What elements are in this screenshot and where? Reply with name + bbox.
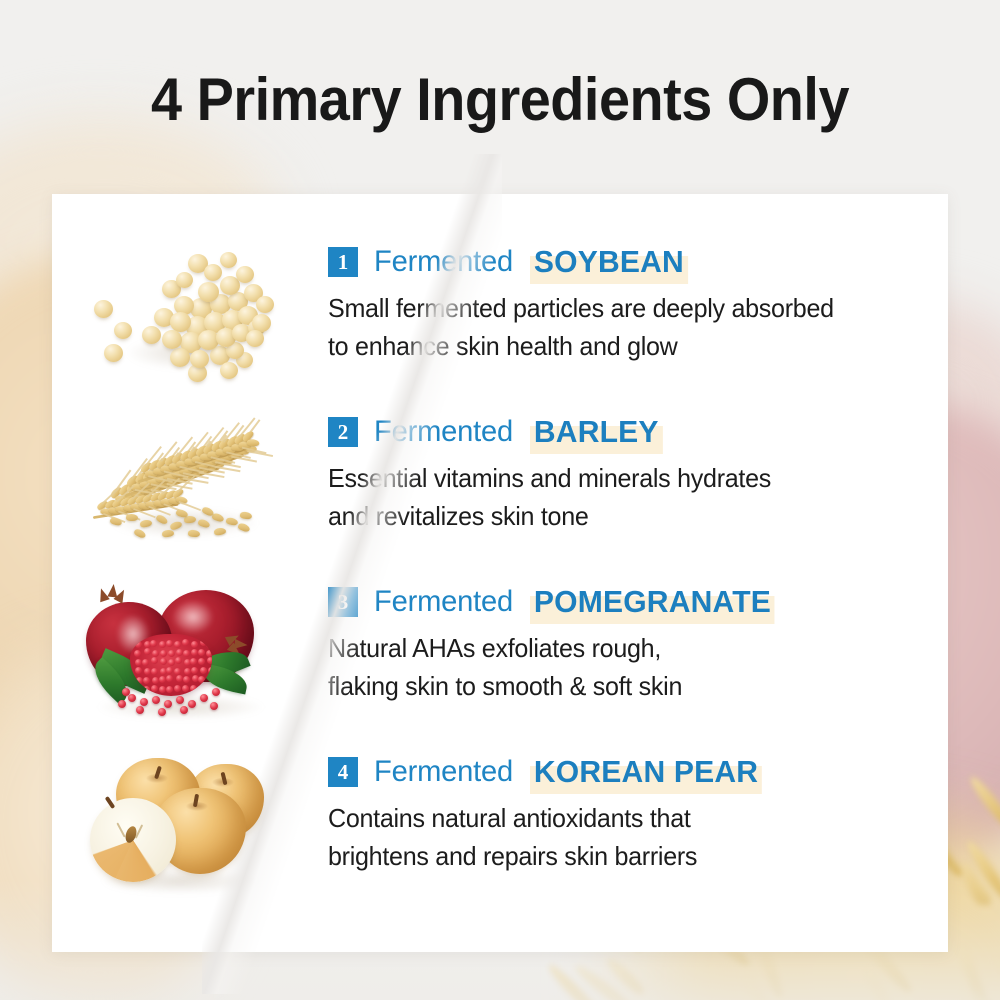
pomegranate-seed (118, 700, 126, 708)
pomegranate-aril (190, 658, 197, 665)
pomegranate-aril (159, 686, 166, 693)
pomegranate-aril (160, 650, 167, 657)
pomegranate-aril (183, 650, 190, 657)
ingredient-text: 3FermentedPOMEGRANATENatural AHAs exfoli… (328, 584, 938, 705)
pomegranate-seed (176, 696, 184, 704)
pomegranate-aril (166, 686, 173, 693)
pomegranate-aril (208, 667, 212, 674)
pomegranate-seed (200, 694, 208, 702)
ingredient-row: 1FermentedSOYBEANSmall fermented particl… (52, 236, 948, 406)
pomegranate-aril (136, 677, 143, 684)
pomegranate-aril (151, 668, 158, 675)
soybean (170, 312, 191, 332)
pomegranate-seed (210, 702, 218, 710)
pomegranate-aril (191, 667, 198, 674)
pomegranate-aril (152, 650, 159, 657)
pomegranate-aril (166, 667, 173, 674)
pomegranate-aril (135, 659, 142, 666)
pomegranate-aril (198, 658, 205, 665)
ingredient-text: 1FermentedSOYBEANSmall fermented particl… (328, 244, 938, 365)
pomegranate-seed (136, 706, 144, 714)
pomegranate-aril (151, 657, 158, 664)
ingredient-description-line-2: to enhance skin health and glow (328, 329, 917, 365)
barley-loose-grain (188, 529, 201, 537)
ingredient-description-line-2: brightens and repairs skin barriers (328, 839, 917, 875)
ingredient-text: 4FermentedKOREAN PEARContains natural an… (328, 754, 938, 875)
pear-cut-half (90, 798, 176, 882)
pomegranate-aril (160, 658, 167, 665)
pomegranate-aril (166, 675, 173, 682)
soybean (246, 330, 264, 347)
pomegranate-aril (144, 648, 151, 655)
ingredient-name: POMEGRANATE (530, 584, 775, 620)
pomegranate-aril (184, 668, 191, 675)
pomegranate-aril (182, 685, 189, 692)
pomegranate-aril (191, 649, 198, 656)
pomegranate-aril (174, 641, 181, 648)
pomegranate-seed (212, 688, 220, 696)
ingredient-number-badge: 4 (328, 757, 358, 787)
pomegranate-aril (198, 676, 205, 683)
ingredient-row: 4FermentedKOREAN PEARContains natural an… (52, 746, 948, 916)
ingredient-heading: 2FermentedBARLEY (328, 414, 938, 450)
pomegranate-aril (168, 659, 175, 666)
page-title: 4 Primary Ingredients Only (35, 70, 965, 130)
pomegranate-aril (166, 640, 173, 647)
ingredient-description-line-1: Natural AHAs exfoliates rough, (328, 631, 917, 667)
ingredient-prefix-label: Fermented (374, 245, 513, 279)
pomegranate-aril (143, 686, 150, 693)
pomegranate-aril (175, 657, 182, 664)
ingredient-name: SOYBEAN (530, 244, 688, 280)
korean-pear-photo (70, 746, 285, 906)
pomegranate-aril (207, 657, 212, 664)
soybean (220, 362, 238, 379)
soybean (114, 322, 132, 339)
pomegranate-aril (191, 641, 198, 648)
soybean (198, 282, 219, 302)
pomegranate-aril (142, 659, 149, 666)
ingredient-number-badge: 2 (328, 417, 358, 447)
ingredient-heading: 3FermentedPOMEGRANATE (328, 584, 938, 620)
ingredient-number-badge: 3 (328, 587, 358, 617)
pomegranate-aril (182, 639, 189, 646)
soybean (220, 252, 237, 268)
pomegranate-aril (190, 685, 197, 692)
pomegranate-aril (206, 641, 212, 648)
soybeans-photo (70, 236, 285, 396)
soybean (142, 326, 161, 344)
ingredients-card: 1FermentedSOYBEANSmall fermented particl… (52, 194, 948, 952)
soybean (176, 272, 193, 288)
pomegranate-seed (164, 700, 172, 708)
ingredient-number-badge: 1 (328, 247, 358, 277)
soybean (170, 348, 190, 367)
ingredient-heading: 1FermentedSOYBEAN (328, 244, 938, 280)
pomegranate-seed (128, 694, 136, 702)
barley-loose-grain (126, 514, 138, 521)
ingredient-name: KOREAN PEAR (530, 754, 762, 790)
pomegranate-gloss (172, 600, 214, 634)
pomegranate-aril (134, 650, 141, 657)
pomegranate-aril (159, 676, 166, 683)
ingredient-description-line-1: Essential vitamins and minerals hydrates (328, 461, 917, 497)
soybean (162, 330, 182, 349)
soybean (190, 350, 209, 368)
ingredient-prefix-label: Fermented (374, 415, 513, 449)
pomegranate-aril (207, 677, 212, 684)
pomegranate-aril (200, 667, 207, 674)
pomegranate-aril (176, 649, 183, 656)
pomegranate-aril (198, 649, 205, 656)
ingredient-text: 2FermentedBARLEYEssential vitamins and m… (328, 414, 938, 535)
pomegranate-aril (174, 668, 181, 675)
pomegranate-aril (159, 641, 166, 648)
soybean (236, 266, 254, 283)
pomegranate-aril (174, 685, 181, 692)
soybean (94, 300, 113, 318)
pomegranate-half (130, 634, 212, 696)
pomegranate-aril (183, 676, 190, 683)
ingredient-prefix-label: Fermented (374, 585, 513, 619)
pomegranate-seed (122, 688, 130, 696)
pomegranate-aril (150, 640, 157, 647)
ingredient-description-line-2: and revitalizes skin tone (328, 499, 917, 535)
ingredient-description-line-1: Small fermented particles are deeply abs… (328, 291, 917, 327)
ingredient-row: 2FermentedBARLEYEssential vitamins and m… (52, 406, 948, 576)
pomegranate-aril (135, 641, 142, 648)
pomegranate-aril (168, 650, 175, 657)
soybean (104, 344, 123, 362)
ingredient-heading: 4FermentedKOREAN PEAR (328, 754, 938, 790)
pomegranate-seed (152, 696, 160, 704)
pomegranate-aril (135, 667, 142, 674)
pomegranate-seed (188, 700, 196, 708)
pomegranate-seed (158, 708, 166, 716)
ingredient-description-line-2: flaking skin to smooth & soft skin (328, 669, 917, 705)
pomegranate-aril (176, 675, 183, 682)
ingredient-prefix-label: Fermented (374, 755, 513, 789)
pomegranate-aril (151, 685, 158, 692)
pomegranate-aril (144, 668, 151, 675)
soybean (204, 264, 222, 281)
background-rice-stalk (967, 774, 1000, 830)
barley-photo (70, 406, 285, 566)
ingredient-name: BARLEY (530, 414, 663, 450)
pomegranate-aril (143, 677, 150, 684)
pomegranate-aril (206, 650, 212, 657)
pomegranate-aril (152, 677, 159, 684)
ingredient-description-line-1: Contains natural antioxidants that (328, 801, 917, 837)
pomegranate-photo (70, 576, 285, 736)
ingredient-row: 3FermentedPOMEGRANATENatural AHAs exfoli… (52, 576, 948, 746)
pomegranate-seed (140, 698, 148, 706)
soybean (256, 296, 274, 313)
pomegranate-seed (180, 706, 188, 714)
pomegranate-aril (136, 685, 143, 692)
